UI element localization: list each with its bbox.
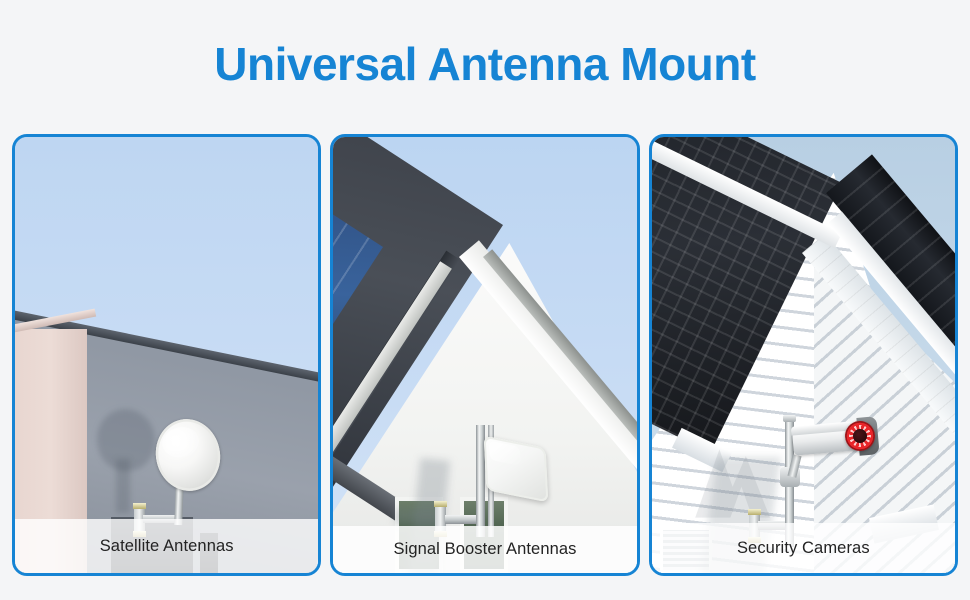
mount-bolt-top bbox=[748, 509, 761, 515]
page-title: Universal Antenna Mount bbox=[0, 38, 970, 91]
card-caption-bar: Signal Booster Antennas bbox=[333, 526, 636, 573]
security-camera-photo bbox=[652, 137, 955, 573]
mount-mast-cap bbox=[783, 415, 796, 422]
mount-shadow bbox=[116, 459, 130, 513]
card-caption-bar: Security Cameras bbox=[652, 523, 955, 573]
mount-bolt-top bbox=[133, 503, 146, 509]
satellite-antenna-photo bbox=[15, 137, 318, 573]
wall-watermark-icon bbox=[682, 423, 792, 533]
use-case-card-security-cameras[interactable]: Security Cameras bbox=[649, 134, 958, 576]
use-case-card-satellite-antennas[interactable]: Satellite Antennas bbox=[12, 134, 321, 576]
card-caption-label: Signal Booster Antennas bbox=[393, 540, 576, 559]
bracket-shadow bbox=[395, 509, 439, 525]
use-case-card-signal-booster-antennas[interactable]: Signal Booster Antennas bbox=[330, 134, 639, 576]
signal-booster-antenna-photo bbox=[333, 137, 636, 573]
card-caption-bar: Satellite Antennas bbox=[15, 519, 318, 573]
product-use-case-gallery: Satellite Antennas Signa bbox=[12, 134, 958, 576]
card-caption-label: Satellite Antennas bbox=[100, 537, 234, 556]
card-caption-label: Security Cameras bbox=[737, 539, 870, 558]
mount-bolt-top bbox=[434, 501, 447, 507]
